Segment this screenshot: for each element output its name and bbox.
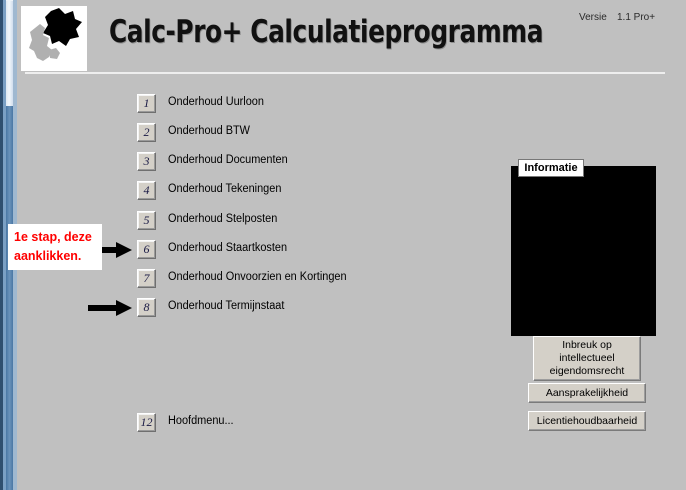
menu-item-label[interactable]: Onderhoud Tekeningen	[168, 183, 281, 195]
annotation-line-2: aanklikken.	[14, 247, 97, 266]
menu-item-label[interactable]: Onderhoud Stelposten	[168, 213, 277, 225]
menu-item-label[interactable]: Onderhoud Termijnstaat	[168, 300, 284, 312]
tab-informatie[interactable]: Informatie	[518, 159, 584, 177]
menu-item-label[interactable]: Hoofdmenu...	[168, 415, 234, 427]
menu-number-button[interactable]: 8	[137, 298, 156, 317]
menu-number-button[interactable]: 2	[137, 123, 156, 142]
menu-item-label[interactable]: Onderhoud Documenten	[168, 154, 288, 166]
information-panel	[511, 166, 656, 336]
liability-button[interactable]: Aansprakelijkheid	[528, 383, 646, 403]
annotation-line-1: 1e stap, deze	[14, 228, 97, 247]
menu-number-button[interactable]: 12	[137, 413, 156, 432]
version-label: Versie	[579, 12, 607, 23]
content-pane: Calc-Pro+ Calculatieprogramma Versie 1.1…	[17, 0, 686, 490]
app-logo	[21, 6, 87, 71]
arrow-shaft	[88, 305, 118, 311]
annotation-callout: 1e stap, deze aanklikken.	[8, 224, 102, 270]
menu-item-label[interactable]: Onderhoud Staartkosten	[168, 242, 287, 254]
application-window: Calc-Pro+ Calculatieprogramma Versie 1.1…	[0, 0, 686, 490]
ip-infringement-button[interactable]: Inbreuk op intellectueel eigendomsrecht	[533, 336, 641, 381]
menu-item-label[interactable]: Onderhoud Uurloon	[168, 96, 264, 108]
scrollbar-track-lower[interactable]	[6, 106, 13, 490]
menu-number-button[interactable]: 7	[137, 269, 156, 288]
menu-item-label[interactable]: Onderhoud Onvoorzien en Kortingen	[168, 271, 347, 283]
menu-number-button[interactable]: 6	[137, 240, 156, 259]
arrow-head	[116, 242, 132, 258]
scrollbar-thumb[interactable]	[6, 0, 13, 106]
menu-number-button[interactable]: 1	[137, 94, 156, 113]
license-validity-button[interactable]: Licentiehoudbaarheid	[528, 411, 646, 431]
menu-number-button[interactable]: 5	[137, 211, 156, 230]
menu-item-label[interactable]: Onderhoud BTW	[168, 125, 250, 137]
menu-number-button[interactable]: 4	[137, 181, 156, 200]
version-value: 1.1 Pro+	[617, 12, 655, 23]
header-divider	[25, 72, 665, 74]
annotation-arrow-icon-8	[88, 300, 134, 316]
menu-number-button[interactable]: 3	[137, 152, 156, 171]
page-title: Calc-Pro+ Calculatieprogramma	[109, 14, 543, 50]
arrow-head	[116, 300, 132, 316]
